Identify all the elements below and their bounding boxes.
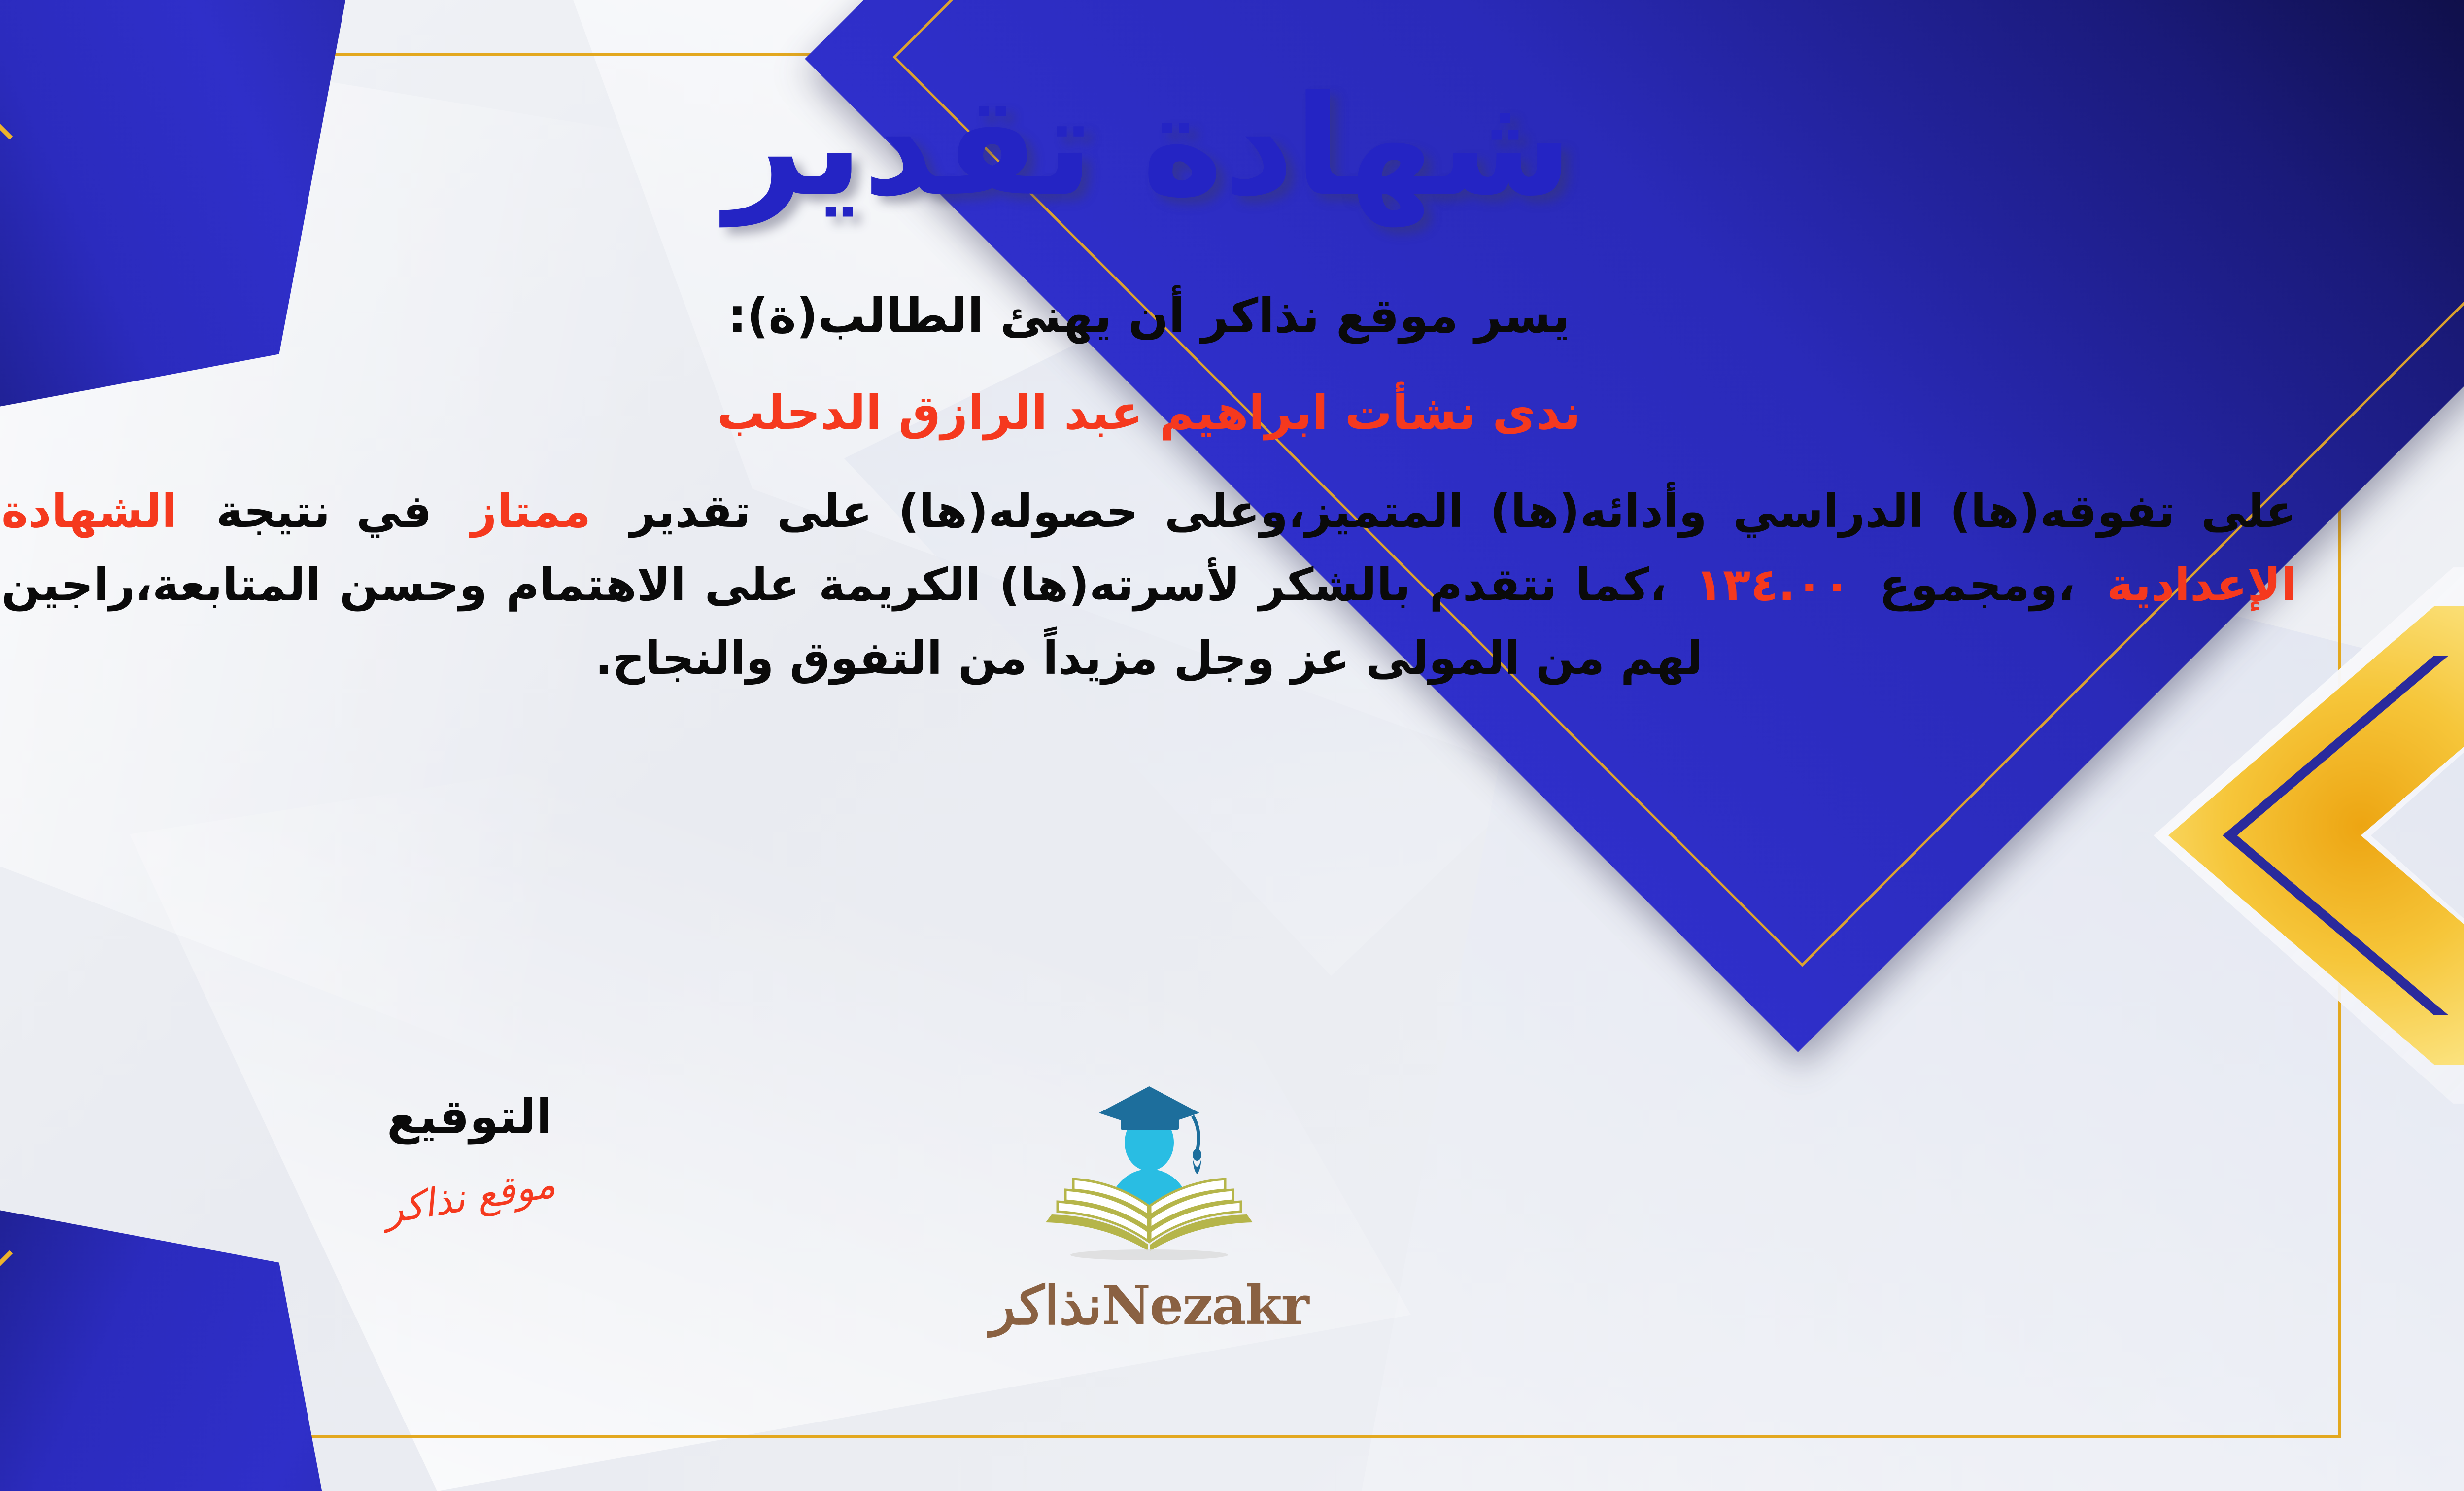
signature-label: التوقيع [297,1089,642,1144]
intro-line: يسر موقع نذاكر أن يهنئ الطالب(ة): [0,278,2316,355]
citation-segment-2: في نتيجة [216,485,432,538]
graduate-book-icon [1016,1075,1282,1272]
signature-mark: موقع نذاكر [381,1162,558,1233]
grade-value: ممتاز [458,485,604,538]
citation-segment-4: ،كما نتقدم بالشكر لأسرته(ها) الكريمة على… [1,558,1703,685]
certificate-page: شهادة تقدير يسر موقع نذاكر أن يهنئ الطال… [0,0,2464,1491]
citation-paragraph: على تفوقه(ها) الدراسي وأدائه(ها) المتميز… [0,475,2316,695]
logo-wordmark-arabic: نذاكر [990,1275,1102,1337]
total-score: ١٣٤.٠٠ [1685,548,1861,622]
signature-block: التوقيع موقع نذاكر [297,1089,642,1219]
site-logo: Nezakrنذاكر [947,1075,1351,1337]
citation-segment-3: ،ومجموع [1879,558,2075,611]
graduate-book-icon-svg [1016,1075,1282,1272]
certificate-body: يسر موقع نذاكر أن يهنئ الطالب(ة): ندى نش… [0,278,2316,695]
citation-segment-1: على تفوقه(ها) الدراسي وأدائه(ها) المتميز… [630,485,2296,538]
certificate-content: شهادة تقدير يسر موقع نذاكر أن يهنئ الطال… [0,59,2316,1432]
certificate-title: شهادة تقدير [725,74,1573,219]
logo-wordmark-latin: Nezakr [1102,1275,1308,1337]
certificate-footer: التوقيع موقع نذاكر [0,1089,2316,1385]
logo-wordmark: Nezakrنذاكر [947,1275,1351,1337]
student-name: ندى نشأت ابراهيم عبد الرازق الدحلب [0,375,2316,451]
